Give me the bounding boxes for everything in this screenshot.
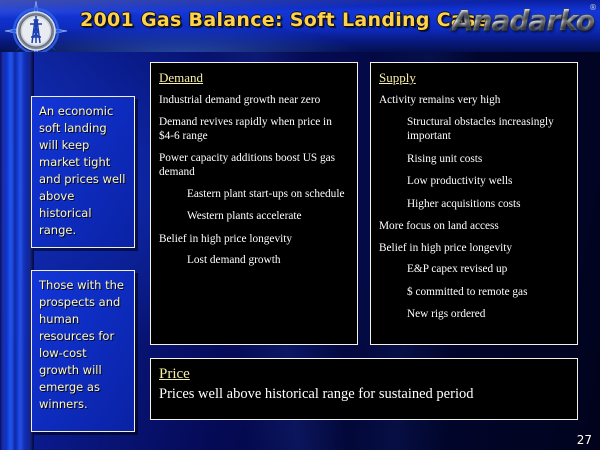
supply-bullet-list: Activity remains very high Structural ob…: [379, 93, 569, 322]
list-item: Industrial demand growth near zero: [159, 93, 349, 108]
list-item: Belief in high price longevity: [159, 232, 349, 247]
anadarko-logo: Anadarko Anadarko ®: [420, 0, 600, 50]
demand-bullet-list: Industrial demand growth near zero Deman…: [159, 93, 349, 268]
list-item: Demand revives rapidly when price in $4-…: [159, 115, 349, 144]
demand-heading: Demand: [159, 70, 349, 86]
registered-mark-icon: ®: [589, 3, 597, 12]
list-item: Higher acquisitions costs: [407, 197, 569, 212]
list-item: New rigs ordered: [407, 307, 569, 322]
oil-derrick-compass-icon: [4, 0, 68, 52]
list-item: E&P capex revised up: [407, 262, 569, 277]
panel-demand: Demand Industrial demand growth near zer…: [150, 62, 358, 345]
callout-box-economic-soft-landing: An economic soft landing will keep marke…: [31, 96, 135, 248]
panel-supply: Supply Activity remains very high Struct…: [370, 62, 578, 345]
list-item: $ committed to remote gas: [407, 285, 569, 300]
page-number: 27: [577, 433, 592, 447]
list-item: Belief in high price longevity: [379, 241, 569, 256]
left-accent-band: [0, 52, 34, 450]
anadarko-logo-text: Anadarko: [452, 4, 594, 37]
list-item: Activity remains very high: [379, 93, 569, 108]
slide-canvas: 2001 Gas Balance: Soft Landing Case Anad…: [0, 0, 600, 450]
panel-price: Price Prices well above historical range…: [150, 358, 578, 420]
list-item: Power capacity additions boost US gas de…: [159, 151, 349, 180]
list-item: Low productivity wells: [407, 174, 569, 189]
list-item: Structural obstacles increasingly import…: [407, 115, 569, 144]
list-item: Lost demand growth: [187, 253, 349, 268]
list-item: More focus on land access: [379, 219, 569, 234]
list-item: Eastern plant start-ups on schedule: [187, 187, 349, 202]
list-item: Western plants accelerate: [187, 209, 349, 224]
callout-box-low-cost-growth: Those with the prospects and human resou…: [31, 270, 135, 432]
supply-heading: Supply: [379, 70, 569, 86]
slide-header: 2001 Gas Balance: Soft Landing Case Anad…: [0, 0, 600, 52]
price-heading: Price: [159, 366, 569, 383]
price-statement: Prices well above historical range for s…: [159, 385, 569, 403]
list-item: Rising unit costs: [407, 152, 569, 167]
